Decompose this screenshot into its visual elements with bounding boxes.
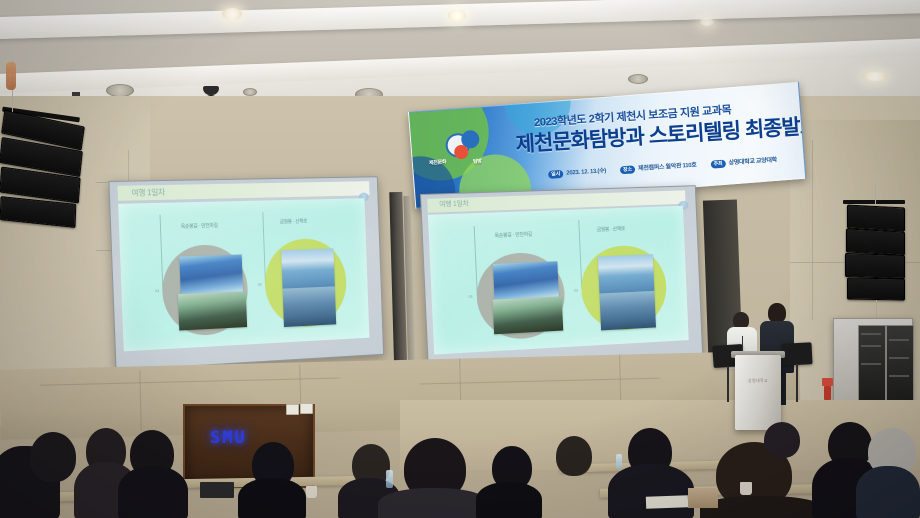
av-equipment-rack — [833, 318, 913, 406]
projection-screen-right: 여행 1일차 옥순봉길 · 만천하길 금월봉 · 산책로 01 02 — [420, 185, 703, 372]
right-line-array-speaker — [845, 200, 915, 304]
banner-logo: 제천문화 탐방 — [427, 128, 504, 180]
slide-title-right: 여행 1일차 — [439, 198, 469, 209]
left-line-array-speaker — [0, 112, 96, 224]
rack-door-right — [886, 325, 914, 401]
monitor-stand-right — [796, 364, 798, 402]
slide-body-left: 옥순봉길 · 만천하길 금월봉 · 산책로 01 02 — [118, 198, 369, 351]
slide-photo-shore-walk — [282, 286, 336, 327]
slide-photo-lake-boat — [281, 248, 335, 288]
speaker-suspension-wire — [875, 184, 876, 204]
audience-person — [476, 482, 542, 518]
slide-column-label-left: 옥순봉길 · 만천하길 — [181, 222, 218, 230]
downlight-icon — [862, 72, 888, 81]
podium-label: 상명대학교 — [748, 378, 768, 384]
banner-logo-label-left: 제천문화 — [429, 158, 447, 166]
slide-photo-forest-road — [178, 291, 247, 330]
wall-seam — [812, 140, 813, 320]
slide-number-left-r: 01 — [468, 294, 473, 299]
downlight-icon — [700, 18, 714, 26]
audience-person — [30, 432, 76, 482]
banner-meta-place: 장소제천캠퍼스 월악관 110호 — [619, 154, 697, 177]
slide-column-label-right-r: 금월봉 · 산책로 — [597, 225, 626, 233]
laptop-on-desk — [200, 482, 234, 498]
slide-column-label-left-r: 옥순봉길 · 만천하길 — [494, 230, 532, 238]
slide-photo-lake-boat-r — [598, 254, 654, 293]
slide-title-left: 여행 1일차 — [131, 187, 165, 199]
slide-photo-shore-walk-r — [600, 291, 656, 330]
banner-meta-host: 주최상명대학교 교양대학 — [710, 148, 778, 170]
slide-photo-lake-aerial-r — [493, 261, 559, 300]
projection-screen-left: 여행 1일차 옥순봉길 · 만천하길 금월봉 · 산책로 01 02 — [108, 176, 384, 371]
audience-area — [0, 400, 920, 518]
lecture-hall-photo: 제천문화 탐방 2023학년도 2학기 제천시 보조금 지원 교과목 제천문화탐… — [0, 0, 920, 518]
ceiling-speaker-icon — [628, 74, 648, 84]
slide-number-left: 01 — [155, 288, 159, 293]
paper-cup — [740, 482, 752, 495]
audience-person — [238, 478, 306, 518]
downlight-icon — [448, 10, 466, 21]
downlight-icon — [222, 8, 242, 20]
audience-person-grey-hair — [856, 466, 920, 518]
ceiling-speaker-icon — [243, 88, 257, 96]
slide-photo-forest-road-r — [492, 296, 563, 334]
box-on-desk — [688, 488, 718, 508]
presenter-monitor-right — [781, 342, 812, 366]
slide-photo-lake-aerial — [179, 254, 243, 294]
slide-column-label-right: 금월봉 · 산책로 — [280, 218, 308, 225]
banner-logo-label-right: 탐방 — [473, 158, 482, 166]
hanging-ornament — [6, 62, 16, 90]
fire-extinguisher-sign — [822, 378, 833, 386]
audience-person — [118, 466, 188, 518]
audience-person-foreground — [378, 488, 490, 518]
slide-number-right-r: 02 — [574, 287, 578, 292]
slide-body-right: 옥순봉길 · 만천하길 금월봉 · 산책로 01 02 — [428, 206, 689, 355]
banner-meta-date: 일시2023. 12. 13.(수) — [547, 159, 606, 181]
paper-on-desk — [646, 495, 688, 508]
audience-person — [764, 422, 800, 458]
audience-person-foreground — [700, 496, 824, 518]
audience-person — [608, 464, 694, 518]
slide-number-right: 02 — [258, 282, 262, 287]
water-bottle — [616, 454, 622, 469]
water-bottle — [386, 470, 393, 488]
paper-cup — [306, 486, 317, 498]
fire-extinguisher-icon — [824, 386, 831, 400]
audience-person — [556, 436, 592, 476]
monitor-stand-left — [727, 366, 729, 402]
